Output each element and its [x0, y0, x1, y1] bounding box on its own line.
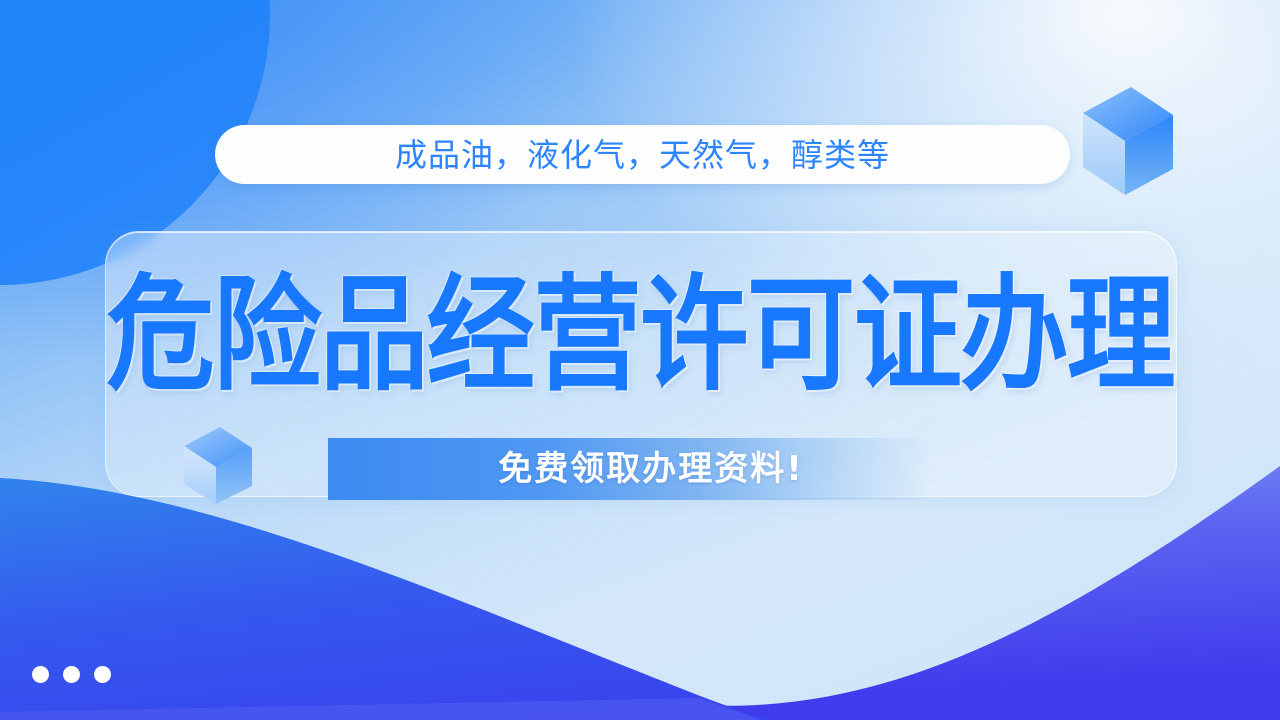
cube-left-icon	[178, 424, 258, 508]
carousel-pagination[interactable]	[32, 666, 111, 683]
carousel-dot-3[interactable]	[94, 666, 111, 683]
tagline-text: 成品油，液化气，天然气，醇类等	[395, 139, 890, 171]
carousel-dot-2[interactable]	[63, 666, 80, 683]
cta-text: 免费领取办理资料!	[498, 452, 804, 486]
tagline-pill: 成品油，液化气，天然气，醇类等	[215, 125, 1070, 184]
carousel-dot-1[interactable]	[32, 666, 49, 683]
cube-top-right-icon	[1073, 83, 1179, 203]
promo-banner: 成品油，液化气，天然气，醇类等 危险品经营许可证办理 免费领取办理资料!	[0, 0, 1280, 720]
cta-bar[interactable]: 免费领取办理资料!	[328, 438, 930, 500]
